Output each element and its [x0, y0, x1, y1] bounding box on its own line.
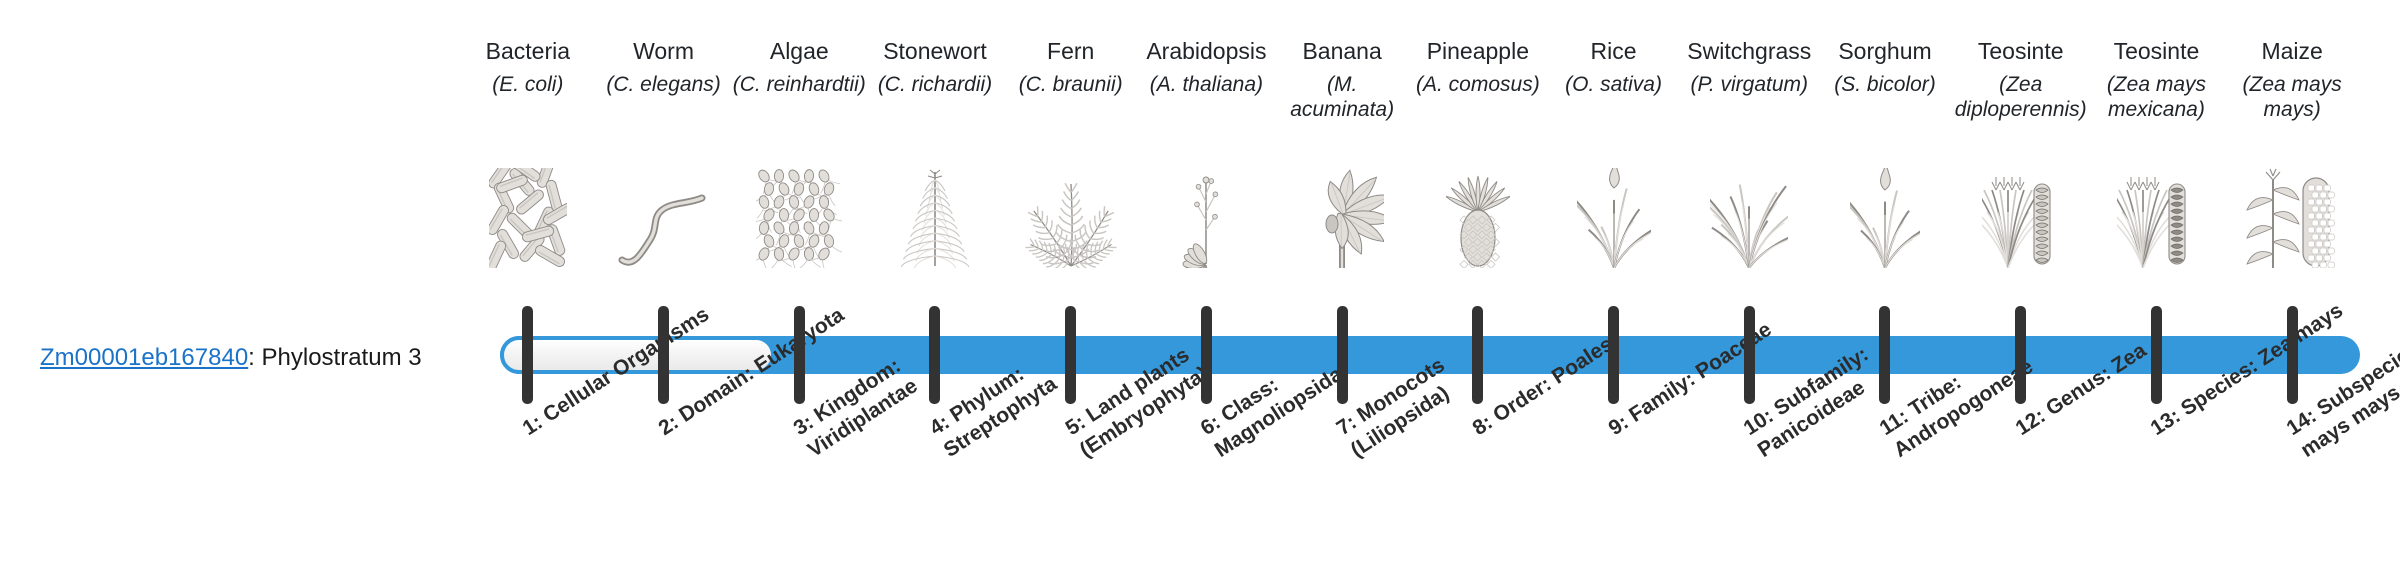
phylostratum-figure: Zm00001eb167840: Phylostratum 3 Bacteria…	[0, 0, 2400, 580]
species-scientific-name: (O. sativa)	[1546, 72, 1682, 97]
stratum-tick-2[interactable]	[658, 306, 669, 404]
species-column-maize-14: Maize(Zea mays mays)14: Subspecies: Zea …	[2224, 0, 2360, 580]
species-column-switchgrass-10: Switchgrass(P. virgatum)10: Subfamily: P…	[1681, 0, 1817, 580]
species-column-teosinte-12: Teosinte(Zea diploperennis)12: Genus: Ze…	[1953, 0, 2089, 580]
species-column-bacteria-1: Bacteria(E. coli)1: Cellular Organisms	[460, 0, 596, 580]
stratum-tick-10[interactable]	[1744, 306, 1755, 404]
species-common-name: Algae	[731, 38, 867, 65]
species-scientific-name: (C. braunii)	[1003, 72, 1139, 97]
stratum-tick-8[interactable]	[1472, 306, 1483, 404]
species-common-name: Stonewort	[867, 38, 1003, 65]
teosinte-diploperennis-illustration	[1953, 168, 2089, 268]
species-column-fern-5: Fern(C. braunii)5: Land plants (Embryoph…	[1003, 0, 1139, 580]
gene-row-label: Zm00001eb167840: Phylostratum 3	[40, 344, 460, 372]
banana-plant-illustration	[1274, 168, 1410, 268]
species-common-name: Bacteria	[460, 38, 596, 65]
species-scientific-name: (A. comosus)	[1410, 72, 1546, 97]
species-scientific-name: (P. virgatum)	[1681, 72, 1817, 97]
species-scientific-name: (M. acuminata)	[1274, 72, 1410, 122]
stratum-tick-7[interactable]	[1337, 306, 1348, 404]
gene-label-separator: :	[248, 344, 261, 371]
stratum-tick-9[interactable]	[1608, 306, 1619, 404]
stratum-tick-3[interactable]	[794, 306, 805, 404]
stratum-label-14: 14: Subspecies: Zea mays mays	[2282, 295, 2400, 464]
species-scientific-name: (S. bicolor)	[1817, 72, 1953, 97]
species-column-algae-3: Algae(C. reinhardtii)3: Kingdom: Viridip…	[731, 0, 867, 580]
species-column-rice-9: Rice(O. sativa)9: Family: Poaceae	[1546, 0, 1682, 580]
sorghum-illustration	[1817, 168, 1953, 268]
species-scientific-name: (E. coli)	[460, 72, 596, 97]
species-column-sorghum-11: Sorghum(S. bicolor)11: Tribe: Andropogon…	[1817, 0, 1953, 580]
species-column-pineapple-8: Pineapple(A. comosus)8: Order: Poales	[1410, 0, 1546, 580]
stratum-tick-4[interactable]	[929, 306, 940, 404]
stratum-tick-5[interactable]	[1065, 306, 1076, 404]
stratum-tick-1[interactable]	[522, 306, 533, 404]
species-common-name: Worm	[596, 38, 732, 65]
species-columns: Bacteria(E. coli)1: Cellular OrganismsWo…	[460, 0, 2360, 580]
stratum-tick-12[interactable]	[2015, 306, 2026, 404]
switchgrass-illustration	[1681, 168, 1817, 268]
species-scientific-name: (Zea diploperennis)	[1953, 72, 2089, 122]
rice-plant-illustration	[1546, 168, 1682, 268]
stonewort-illustration	[867, 168, 1003, 268]
stratum-tick-6[interactable]	[1201, 306, 1212, 404]
species-column-teosinte-13: Teosinte(Zea mays mexicana)13: Species: …	[2089, 0, 2225, 580]
species-scientific-name: (C. richardii)	[867, 72, 1003, 97]
species-scientific-name: (C. elegans)	[596, 72, 732, 97]
pineapple-illustration	[1410, 168, 1546, 268]
species-common-name: Arabidopsis	[1139, 38, 1275, 65]
species-common-name: Teosinte	[2089, 38, 2225, 65]
species-common-name: Rice	[1546, 38, 1682, 65]
species-column-banana-7: Banana(M. acuminata)7: Monocots (Liliops…	[1274, 0, 1410, 580]
species-common-name: Fern	[1003, 38, 1139, 65]
teosinte-mexicana-illustration	[2089, 168, 2225, 268]
species-column-stonewort-4: Stonewort(C. richardii)4: Phylum: Strept…	[867, 0, 1003, 580]
species-common-name: Teosinte	[1953, 38, 2089, 65]
stratum-tick-14[interactable]	[2287, 306, 2298, 404]
fern-illustration	[1003, 168, 1139, 268]
species-column-arabidopsis-6: Arabidopsis(A. thaliana)6: Class: Magnol…	[1139, 0, 1275, 580]
gene-id-link[interactable]: Zm00001eb167840	[40, 344, 248, 371]
arabidopsis-illustration	[1139, 168, 1275, 268]
maize-illustration	[2224, 168, 2360, 268]
phylostratum-value: Phylostratum 3	[262, 344, 422, 371]
species-scientific-name: (Zea mays mexicana)	[2089, 72, 2225, 122]
nematode-worm-illustration	[596, 168, 732, 268]
species-scientific-name: (A. thaliana)	[1139, 72, 1275, 97]
species-scientific-name: (C. reinhardtii)	[731, 72, 867, 97]
species-common-name: Switchgrass	[1681, 38, 1817, 65]
species-common-name: Maize	[2224, 38, 2360, 65]
species-column-worm-2: Worm(C. elegans)2: Domain: Eukaryota	[596, 0, 732, 580]
bacteria-illustration	[460, 168, 596, 268]
stratum-tick-11[interactable]	[1879, 306, 1890, 404]
species-common-name: Sorghum	[1817, 38, 1953, 65]
stratum-tick-13[interactable]	[2151, 306, 2162, 404]
species-common-name: Pineapple	[1410, 38, 1546, 65]
species-scientific-name: (Zea mays mays)	[2224, 72, 2360, 122]
green-algae-illustration	[731, 168, 867, 268]
species-common-name: Banana	[1274, 38, 1410, 65]
